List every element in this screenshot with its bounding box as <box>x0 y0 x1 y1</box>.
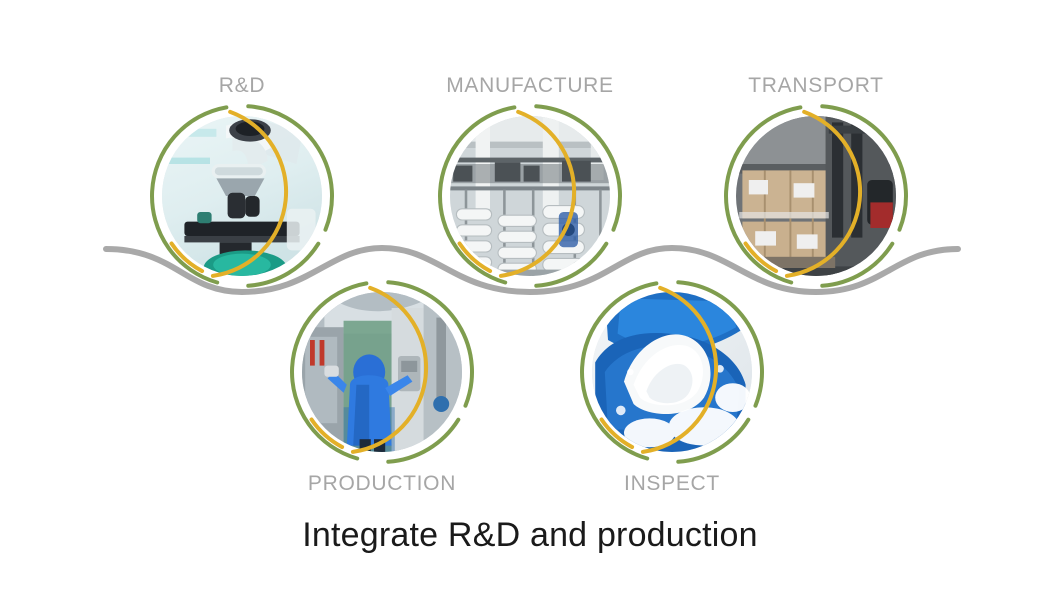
node-label-rd: R&D <box>156 74 328 98</box>
node-label-inspect: INSPECT <box>586 472 758 496</box>
node-label-production: PRODUCTION <box>296 472 468 496</box>
node-ring <box>574 274 770 470</box>
node-label-manufacture: MANUFACTURE <box>444 74 616 98</box>
process-node-transport[interactable]: TRANSPORT <box>730 110 902 282</box>
process-node-production[interactable]: PRODUCTION <box>296 286 468 458</box>
node-ring <box>718 98 914 294</box>
node-ring <box>432 98 628 294</box>
node-ring <box>284 274 480 470</box>
infographic-canvas: R&D MANU <box>0 0 1060 596</box>
page-title: Integrate R&D and production <box>0 516 1060 555</box>
process-node-inspect[interactable]: INSPECT <box>586 286 758 458</box>
process-node-manufacture[interactable]: MANUFACTURE <box>444 110 616 282</box>
node-label-transport: TRANSPORT <box>730 74 902 98</box>
node-ring <box>144 98 340 294</box>
process-node-rd[interactable]: R&D <box>156 110 328 282</box>
